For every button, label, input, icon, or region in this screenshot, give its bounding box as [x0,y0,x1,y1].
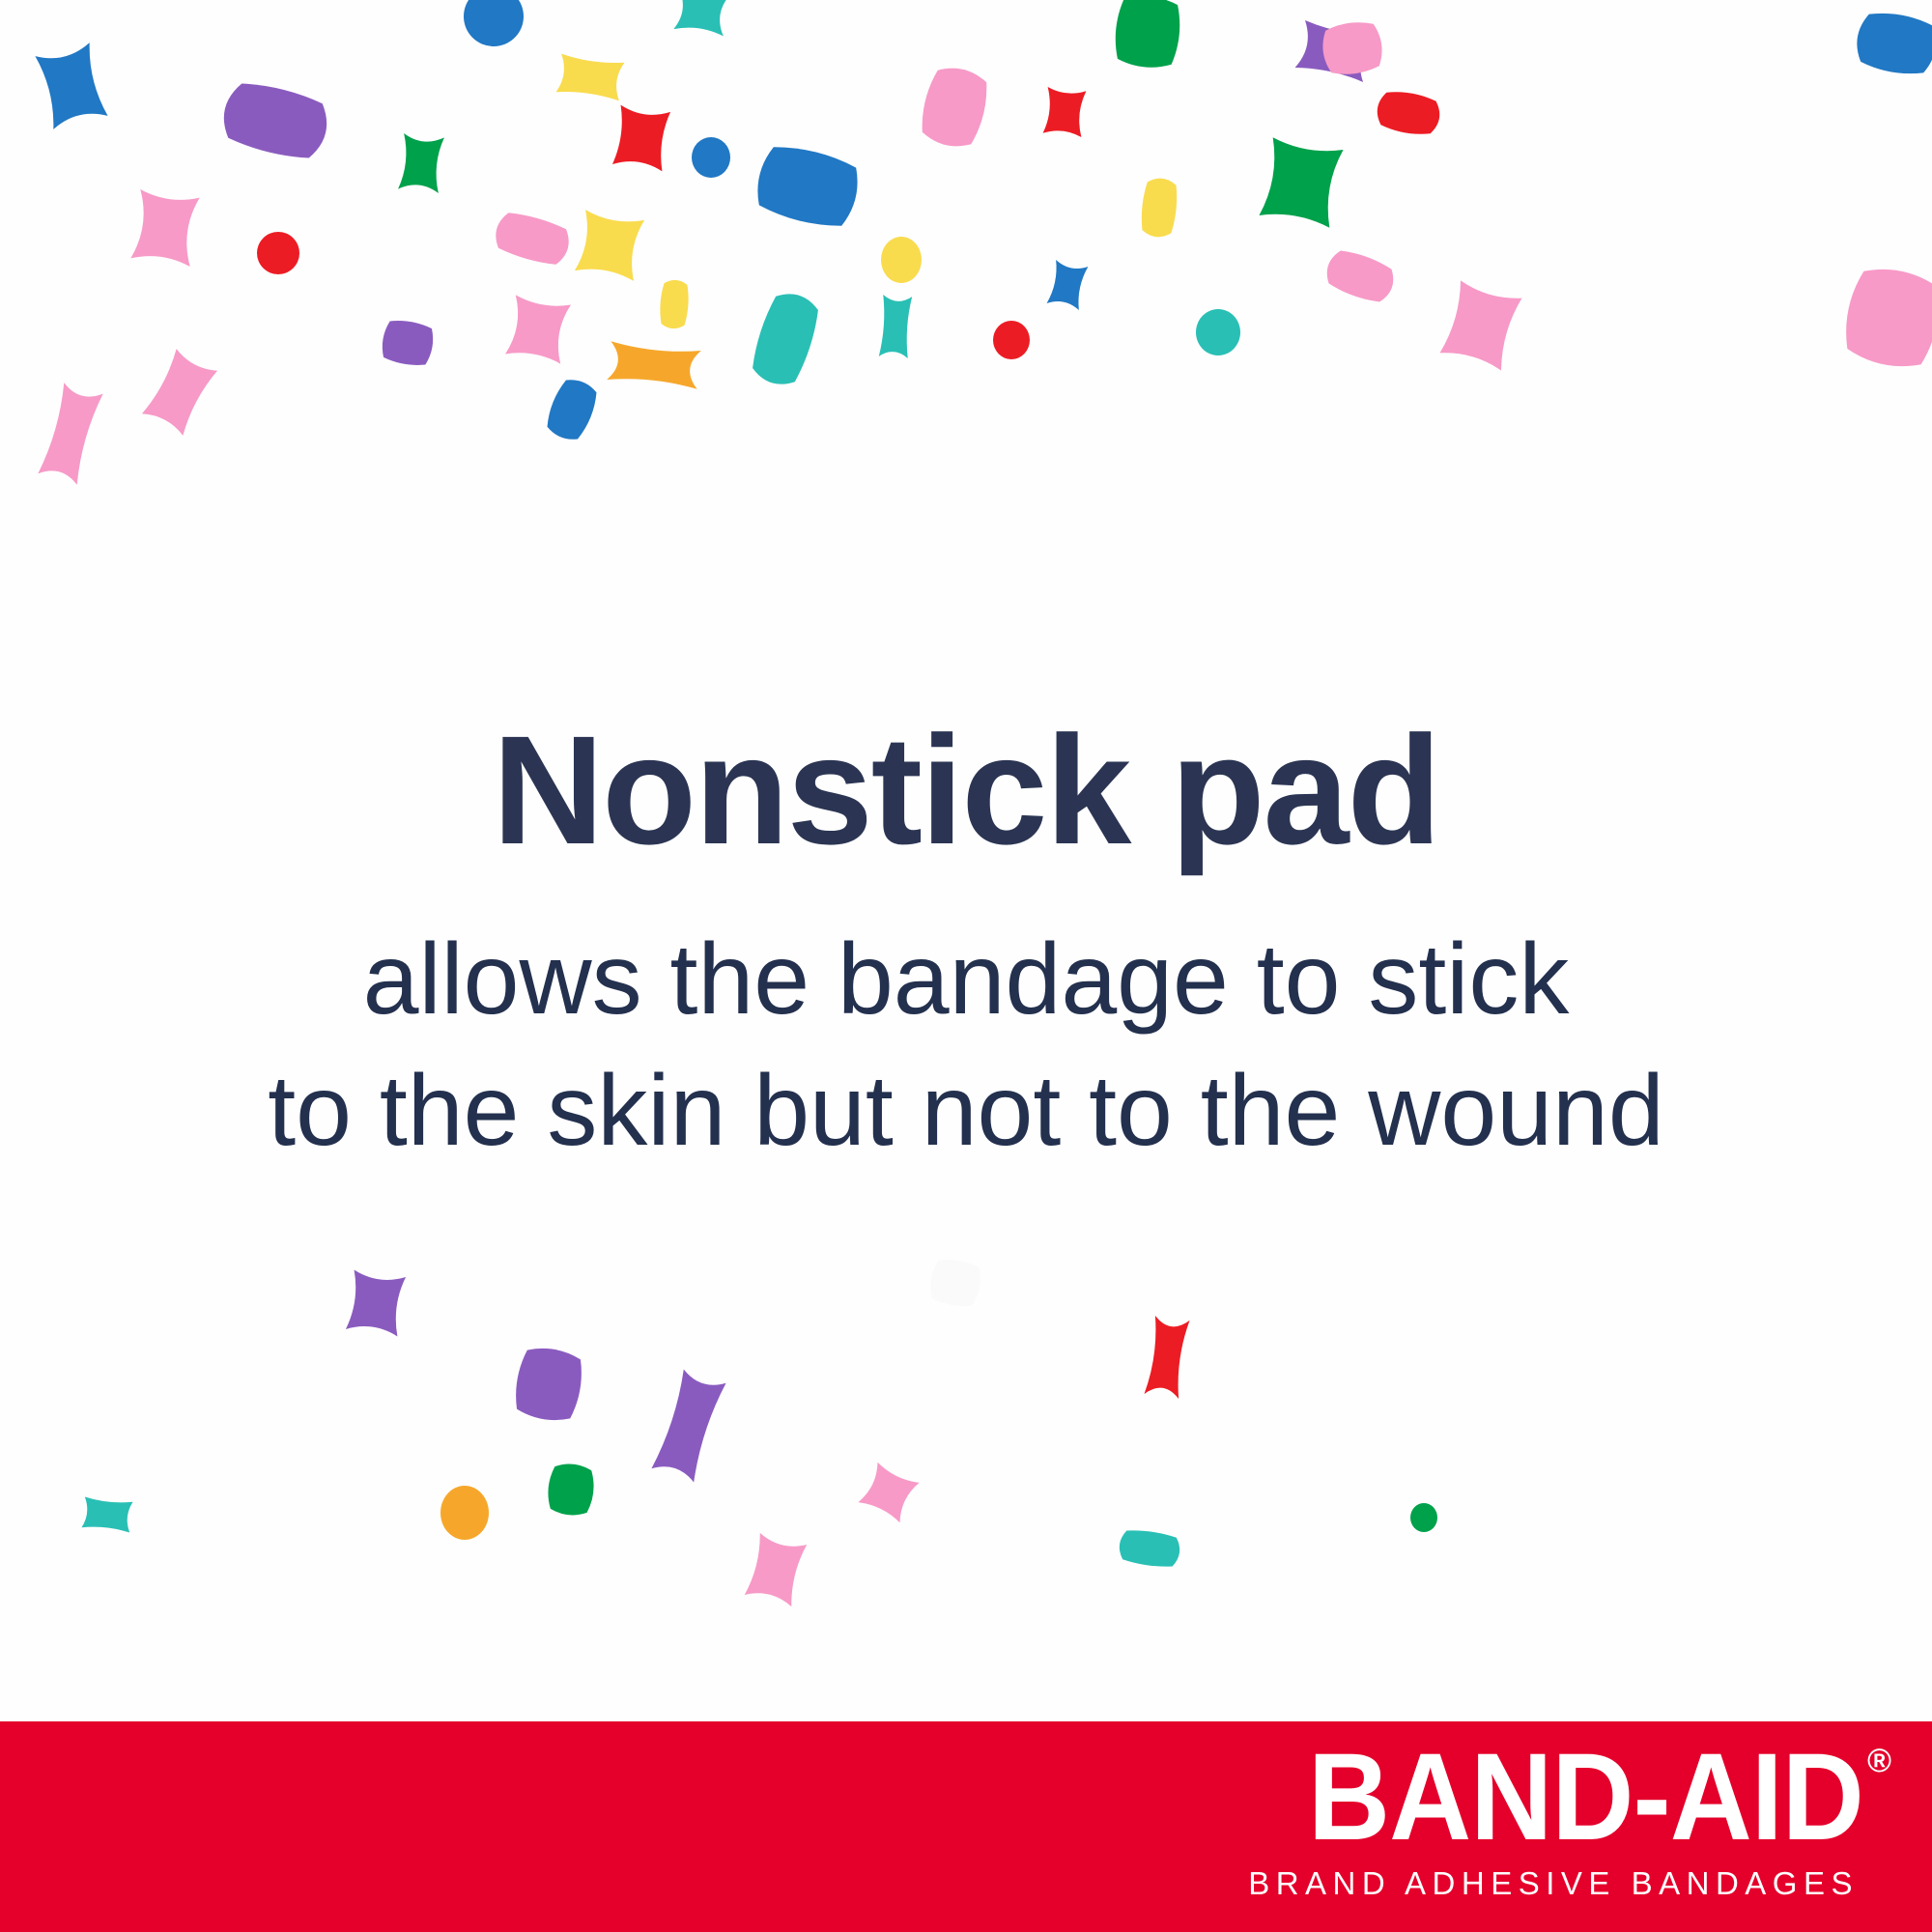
confetti-piece [556,54,625,101]
confetti-piece [1838,262,1932,373]
confetti-piece [881,237,922,283]
confetti-piece [380,318,437,368]
confetti-piece [440,1486,489,1540]
band-aid-logo: BAND-AID ® BRAND ADHESIVE BANDAGES [1248,1739,1891,1902]
confetti-piece [1295,20,1374,82]
brand-wordmark: BAND-AID [1308,1739,1863,1858]
confetti-piece [1196,309,1240,355]
confetti-piece [511,1344,585,1424]
brand-tagline: BRAND ADHESIVE BANDAGES [1248,1865,1859,1902]
confetti-piece [546,1462,596,1517]
confetti-piece [130,189,199,267]
confetti-svg-top [0,0,1932,541]
confetti-piece [747,288,824,391]
registered-trademark-icon: ® [1867,1745,1891,1777]
confetti-piece [1375,88,1443,138]
confetti-piece [1047,260,1089,310]
confetti-piece [398,133,444,193]
confetti-piece [612,105,670,172]
confetti-piece [38,383,102,485]
confetti-piece [752,140,865,233]
subhead-line-1: allows the bandage to stick [0,929,1932,1030]
confetti-piece [35,43,107,129]
confetti-piece [346,1270,406,1337]
confetti-piece [257,232,299,274]
brand-footer-banner: BAND-AID ® BRAND ADHESIVE BANDAGES [0,1721,1932,1932]
confetti-piece [491,209,573,270]
headline: Nonstick pad [0,713,1932,867]
confetti-piece [1112,0,1182,71]
confetti-piece [575,210,644,281]
confetti-piece [464,0,524,46]
confetti-piece [1320,19,1385,78]
confetti-piece [1853,8,1932,78]
brand-wordmark-row: BAND-AID ® [1248,1739,1891,1858]
confetti-piece [607,341,701,389]
confetti-piece [505,295,571,363]
confetti-piece [1321,245,1399,307]
confetti-piece [1139,177,1179,239]
confetti-decoration-bottom [0,1198,1932,1739]
confetti-piece [673,0,728,36]
subhead-line-2: to the skin but not to the wound [0,1061,1932,1161]
confetti-piece [651,1370,725,1483]
confetti-piece [142,349,217,436]
confetti-svg-bottom [0,1198,1932,1739]
confetti-piece [1259,137,1343,228]
confetti-piece [692,137,730,178]
confetti-piece [858,1463,919,1522]
confetti-piece [1410,1503,1437,1532]
confetti-piece [1144,1316,1189,1399]
confetti-piece [217,77,333,164]
confetti-piece [81,1496,132,1532]
confetti-piece [993,321,1030,359]
confetti-piece [1440,280,1522,370]
confetti-piece [916,63,992,153]
confetti-piece [659,279,690,329]
confetti-piece [1043,87,1087,137]
confetti-piece [927,1257,983,1310]
confetti-piece [879,295,912,358]
confetti-piece [745,1533,807,1606]
confetti-decoration-top [0,0,1932,541]
ad-creative-canvas: Nonstick pad allows the bandage to stick… [0,0,1932,1932]
confetti-piece [542,375,602,445]
confetti-piece [1118,1527,1182,1569]
